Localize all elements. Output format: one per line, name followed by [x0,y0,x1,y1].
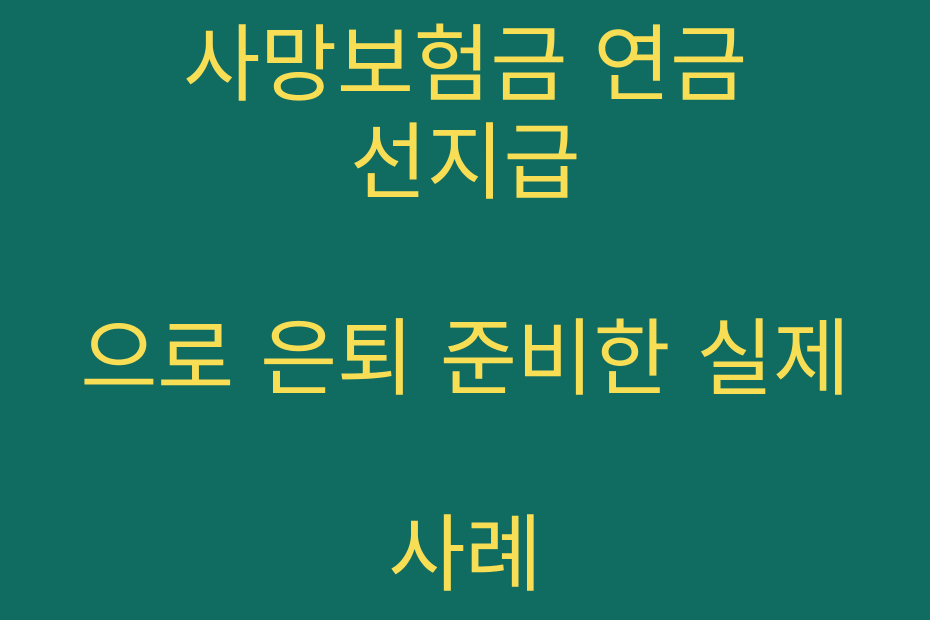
headline-line-2: 으로 은퇴 준비한 실제 [58,310,872,408]
title-card: 사망보험금 연금 선지급 으로 은퇴 준비한 실제 사례 [0,0,930,620]
headline-line-3: 사례 [58,506,872,604]
headline-line-1: 사망보험금 연금 선지급 [58,16,872,212]
page-title: 사망보험금 연금 선지급 으로 은퇴 준비한 실제 사례 [0,0,930,620]
